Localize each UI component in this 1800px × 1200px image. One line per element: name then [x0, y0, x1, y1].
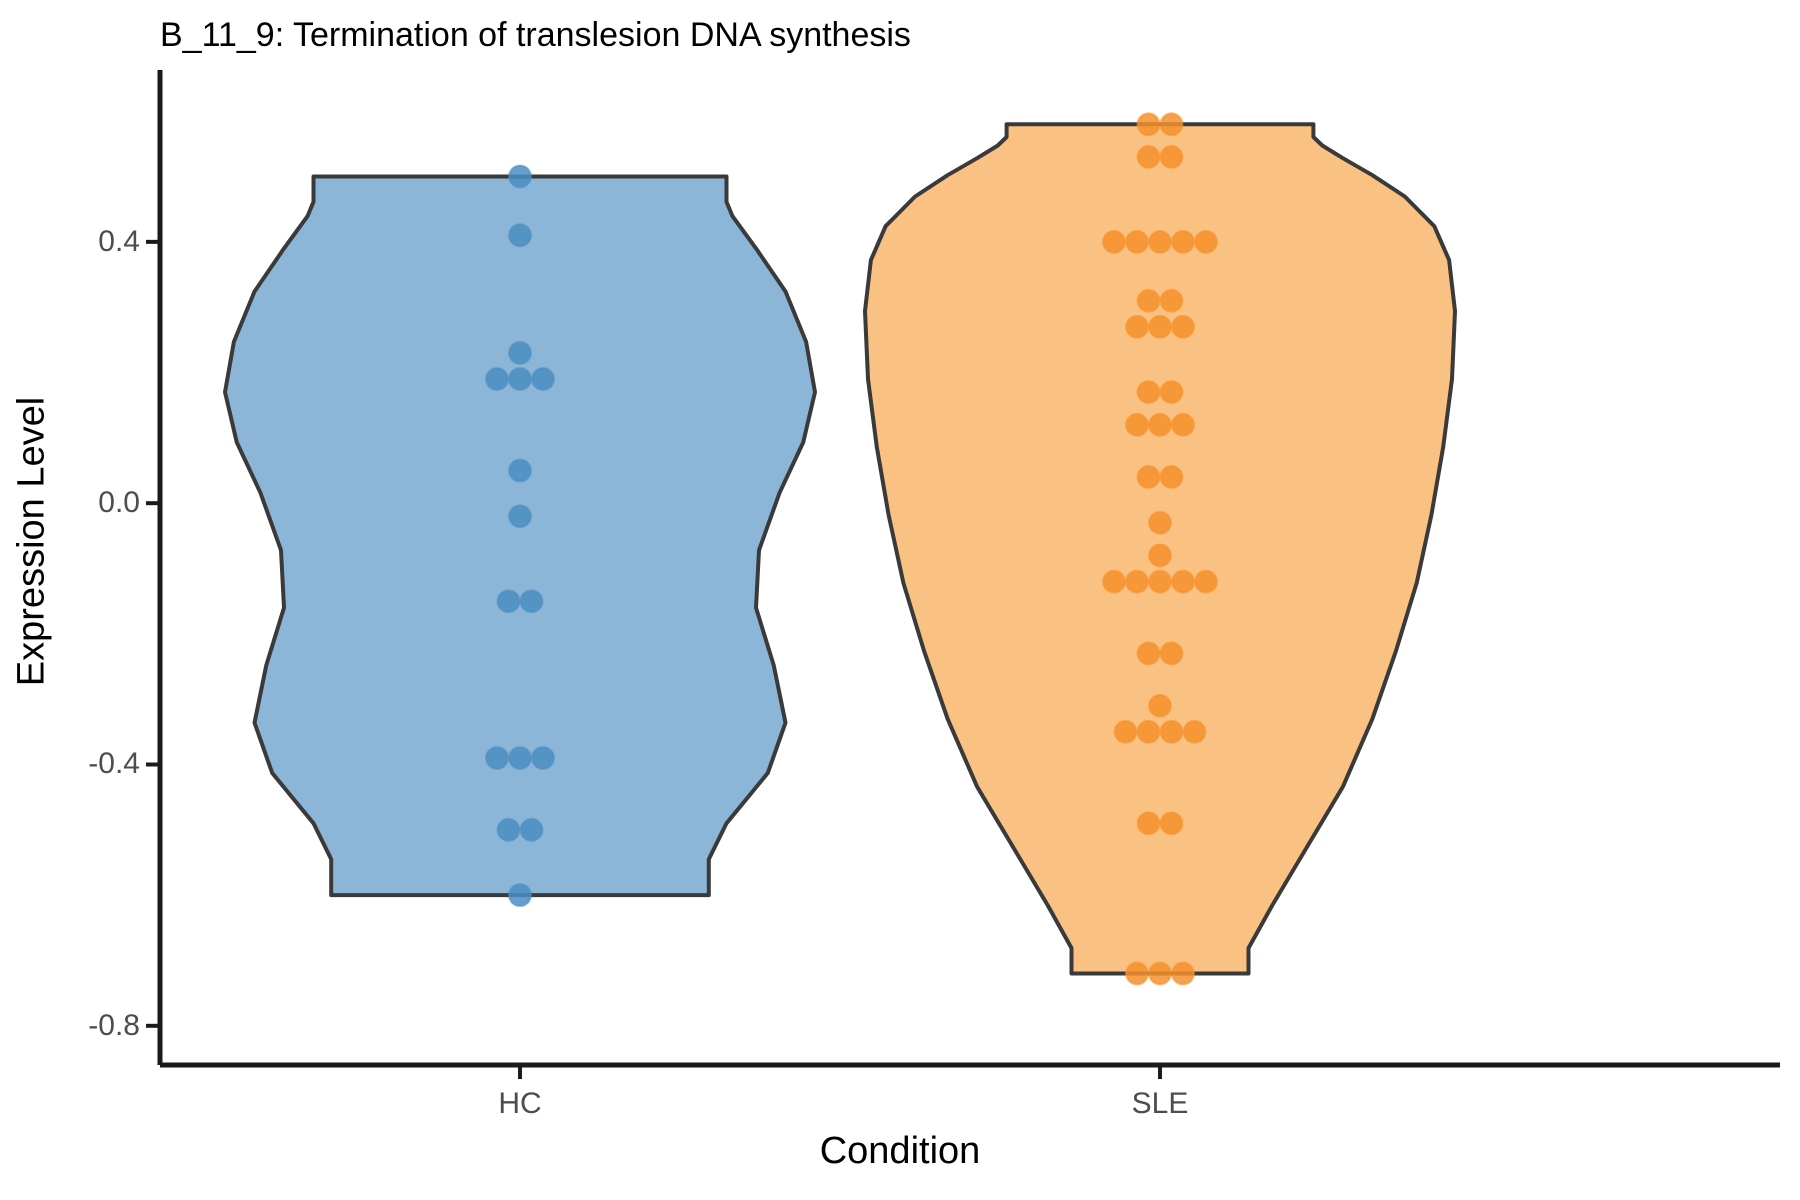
data-point — [1172, 231, 1194, 253]
data-point — [1138, 113, 1160, 135]
y-tick-label: 0.4 — [20, 225, 140, 259]
data-point — [1149, 544, 1171, 566]
data-point — [1184, 721, 1206, 743]
x-tick-label-hc: HC — [498, 1087, 541, 1121]
data-point — [509, 460, 531, 482]
data-point — [509, 224, 531, 246]
data-point — [509, 884, 531, 906]
data-point — [1161, 290, 1183, 312]
data-point — [509, 342, 531, 364]
x-tick-label-sle: SLE — [1132, 1087, 1189, 1121]
data-point — [532, 747, 554, 769]
data-point — [1149, 414, 1171, 436]
data-point — [1126, 963, 1148, 985]
data-point — [1138, 146, 1160, 168]
data-point — [532, 368, 554, 390]
data-point — [1149, 963, 1171, 985]
data-point — [1149, 316, 1171, 338]
data-point — [509, 747, 531, 769]
data-point — [498, 819, 520, 841]
data-point — [1172, 571, 1194, 593]
data-point — [521, 819, 543, 841]
data-point — [1126, 231, 1148, 253]
data-point — [1138, 642, 1160, 664]
data-point — [1161, 812, 1183, 834]
data-point — [1161, 466, 1183, 488]
data-point — [509, 166, 531, 188]
data-point — [1138, 721, 1160, 743]
data-point — [1103, 231, 1125, 253]
y-tick-label: 0.0 — [20, 486, 140, 520]
data-point — [1149, 512, 1171, 534]
data-point — [1195, 571, 1217, 593]
data-point — [1115, 721, 1137, 743]
data-point — [1172, 414, 1194, 436]
data-point — [1149, 571, 1171, 593]
violin-plot-figure: B_11_9: Termination of translesion DNA s… — [0, 0, 1800, 1200]
data-point — [1161, 146, 1183, 168]
data-point — [1126, 571, 1148, 593]
data-point — [486, 747, 508, 769]
data-point — [1138, 381, 1160, 403]
data-point — [1138, 290, 1160, 312]
data-point — [1161, 642, 1183, 664]
chart-canvas — [0, 0, 1800, 1200]
data-point — [1149, 231, 1171, 253]
data-point — [1138, 466, 1160, 488]
data-point — [1161, 721, 1183, 743]
data-point — [1161, 381, 1183, 403]
data-point — [509, 505, 531, 527]
data-point — [1161, 113, 1183, 135]
data-point — [1126, 414, 1148, 436]
data-point — [1172, 316, 1194, 338]
data-point — [486, 368, 508, 390]
data-point — [498, 590, 520, 612]
data-point — [1149, 695, 1171, 717]
y-tick-label: -0.8 — [20, 1009, 140, 1043]
data-point — [1195, 231, 1217, 253]
data-point — [509, 368, 531, 390]
data-point — [1126, 316, 1148, 338]
data-point — [521, 590, 543, 612]
data-point — [1172, 963, 1194, 985]
data-point — [1138, 812, 1160, 834]
violin-hc — [225, 177, 815, 896]
violin-shapes-layer — [225, 124, 1455, 973]
y-tick-label: -0.4 — [20, 747, 140, 781]
data-point — [1103, 571, 1125, 593]
